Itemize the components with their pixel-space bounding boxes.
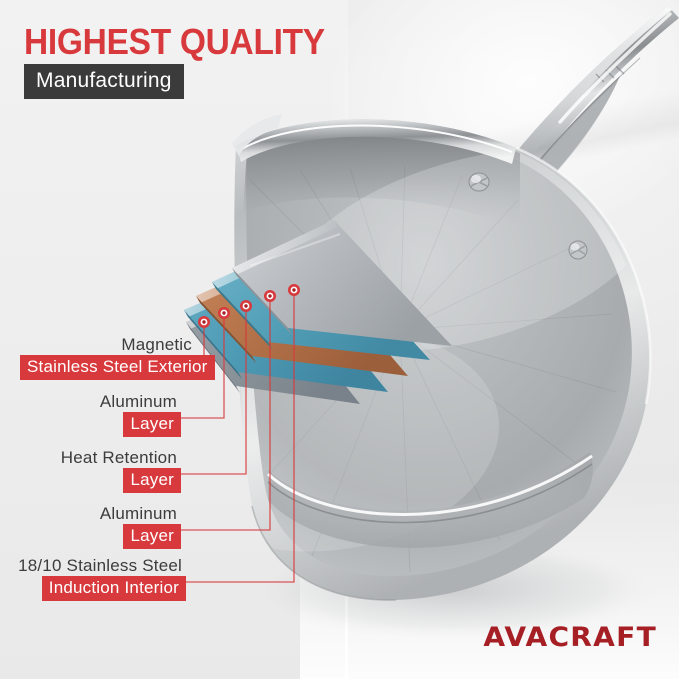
callout-title: Magnetic: [20, 335, 196, 355]
callout-induction-interior: 18/10 Stainless SteelInduction Interior: [12, 556, 186, 601]
brand-logo: AVACRAFT: [483, 624, 657, 651]
page-title: HIGHEST QUALITY: [24, 22, 325, 62]
callout-title: Aluminum: [20, 392, 181, 412]
callout-heat-retention-layer: Heat RetentionLayer: [20, 448, 181, 493]
infographic-canvas: HIGHEST QUALITY Manufacturing MagneticSt…: [0, 0, 679, 679]
background-vertical-seam: [345, 0, 348, 679]
subtitle-banner: Manufacturing: [24, 64, 184, 99]
callout-highlight: Stainless Steel Exterior: [20, 355, 215, 380]
callout-magnetic-stainless-steel-exterior: MagneticStainless Steel Exterior: [20, 335, 196, 380]
callout-highlight: Layer: [123, 468, 181, 493]
callout-aluminum-layer-outer: AluminumLayer: [20, 392, 181, 437]
callout-aluminum-layer-inner: AluminumLayer: [20, 504, 181, 549]
callout-highlight: Layer: [123, 412, 181, 437]
callout-title: Heat Retention: [20, 448, 181, 468]
callout-title: Aluminum: [20, 504, 181, 524]
callout-highlight: Induction Interior: [42, 576, 186, 601]
callout-title: 18/10 Stainless Steel: [12, 556, 186, 576]
callout-highlight: Layer: [123, 524, 181, 549]
